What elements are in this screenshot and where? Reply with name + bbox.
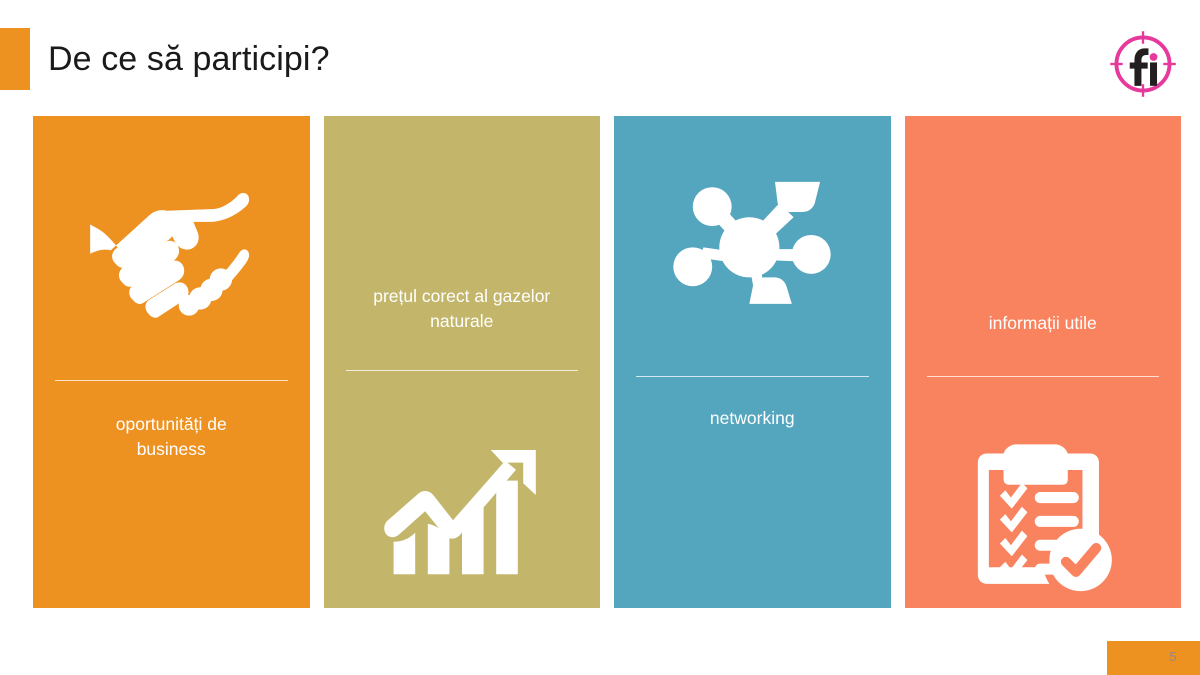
benefit-label-line-1: informații utile: [927, 311, 1160, 336]
benefit-label-line-2: naturale: [346, 309, 579, 334]
column-divider: [927, 376, 1160, 377]
benefit-label: prețul corect al gazelor naturale: [346, 284, 579, 334]
benefit-columns: oportunități de business prețul corect a…: [33, 116, 1181, 608]
clipboard-checklist-icon: [927, 425, 1160, 605]
benefit-column-oportunitati-de-business[interactable]: oportunități de business: [33, 116, 310, 608]
benefit-label: networking: [636, 406, 869, 431]
handshake-icon: [55, 154, 288, 344]
column-divider: [636, 376, 869, 377]
fi-logo: [1104, 25, 1182, 103]
column-divider: [55, 380, 288, 381]
benefit-label-line-1: prețul corect al gazelor: [346, 284, 579, 309]
benefit-column-pretul-corect-al-gazelor-naturale[interactable]: prețul corect al gazelor naturale: [324, 116, 601, 608]
benefit-column-networking[interactable]: networking: [614, 116, 891, 608]
network-hub-icon: [636, 156, 869, 336]
page-number-box: [1107, 641, 1200, 675]
slide-canvas: De ce să participi?: [0, 0, 1200, 675]
benefit-label-line-2: business: [55, 437, 288, 462]
growth-chart-icon: [346, 423, 579, 603]
benefit-label-line-1: oportunități de: [55, 412, 288, 437]
page-number: 5: [1160, 648, 1186, 666]
page-title: De ce să participi?: [48, 36, 330, 82]
benefit-label: informații utile: [927, 311, 1160, 336]
benefit-column-informatii-utile[interactable]: informații utile: [905, 116, 1182, 608]
benefit-label: oportunități de business: [55, 412, 288, 462]
title-accent-bar: [0, 28, 30, 90]
benefit-label-line-1: networking: [636, 406, 869, 431]
column-divider: [346, 370, 579, 371]
